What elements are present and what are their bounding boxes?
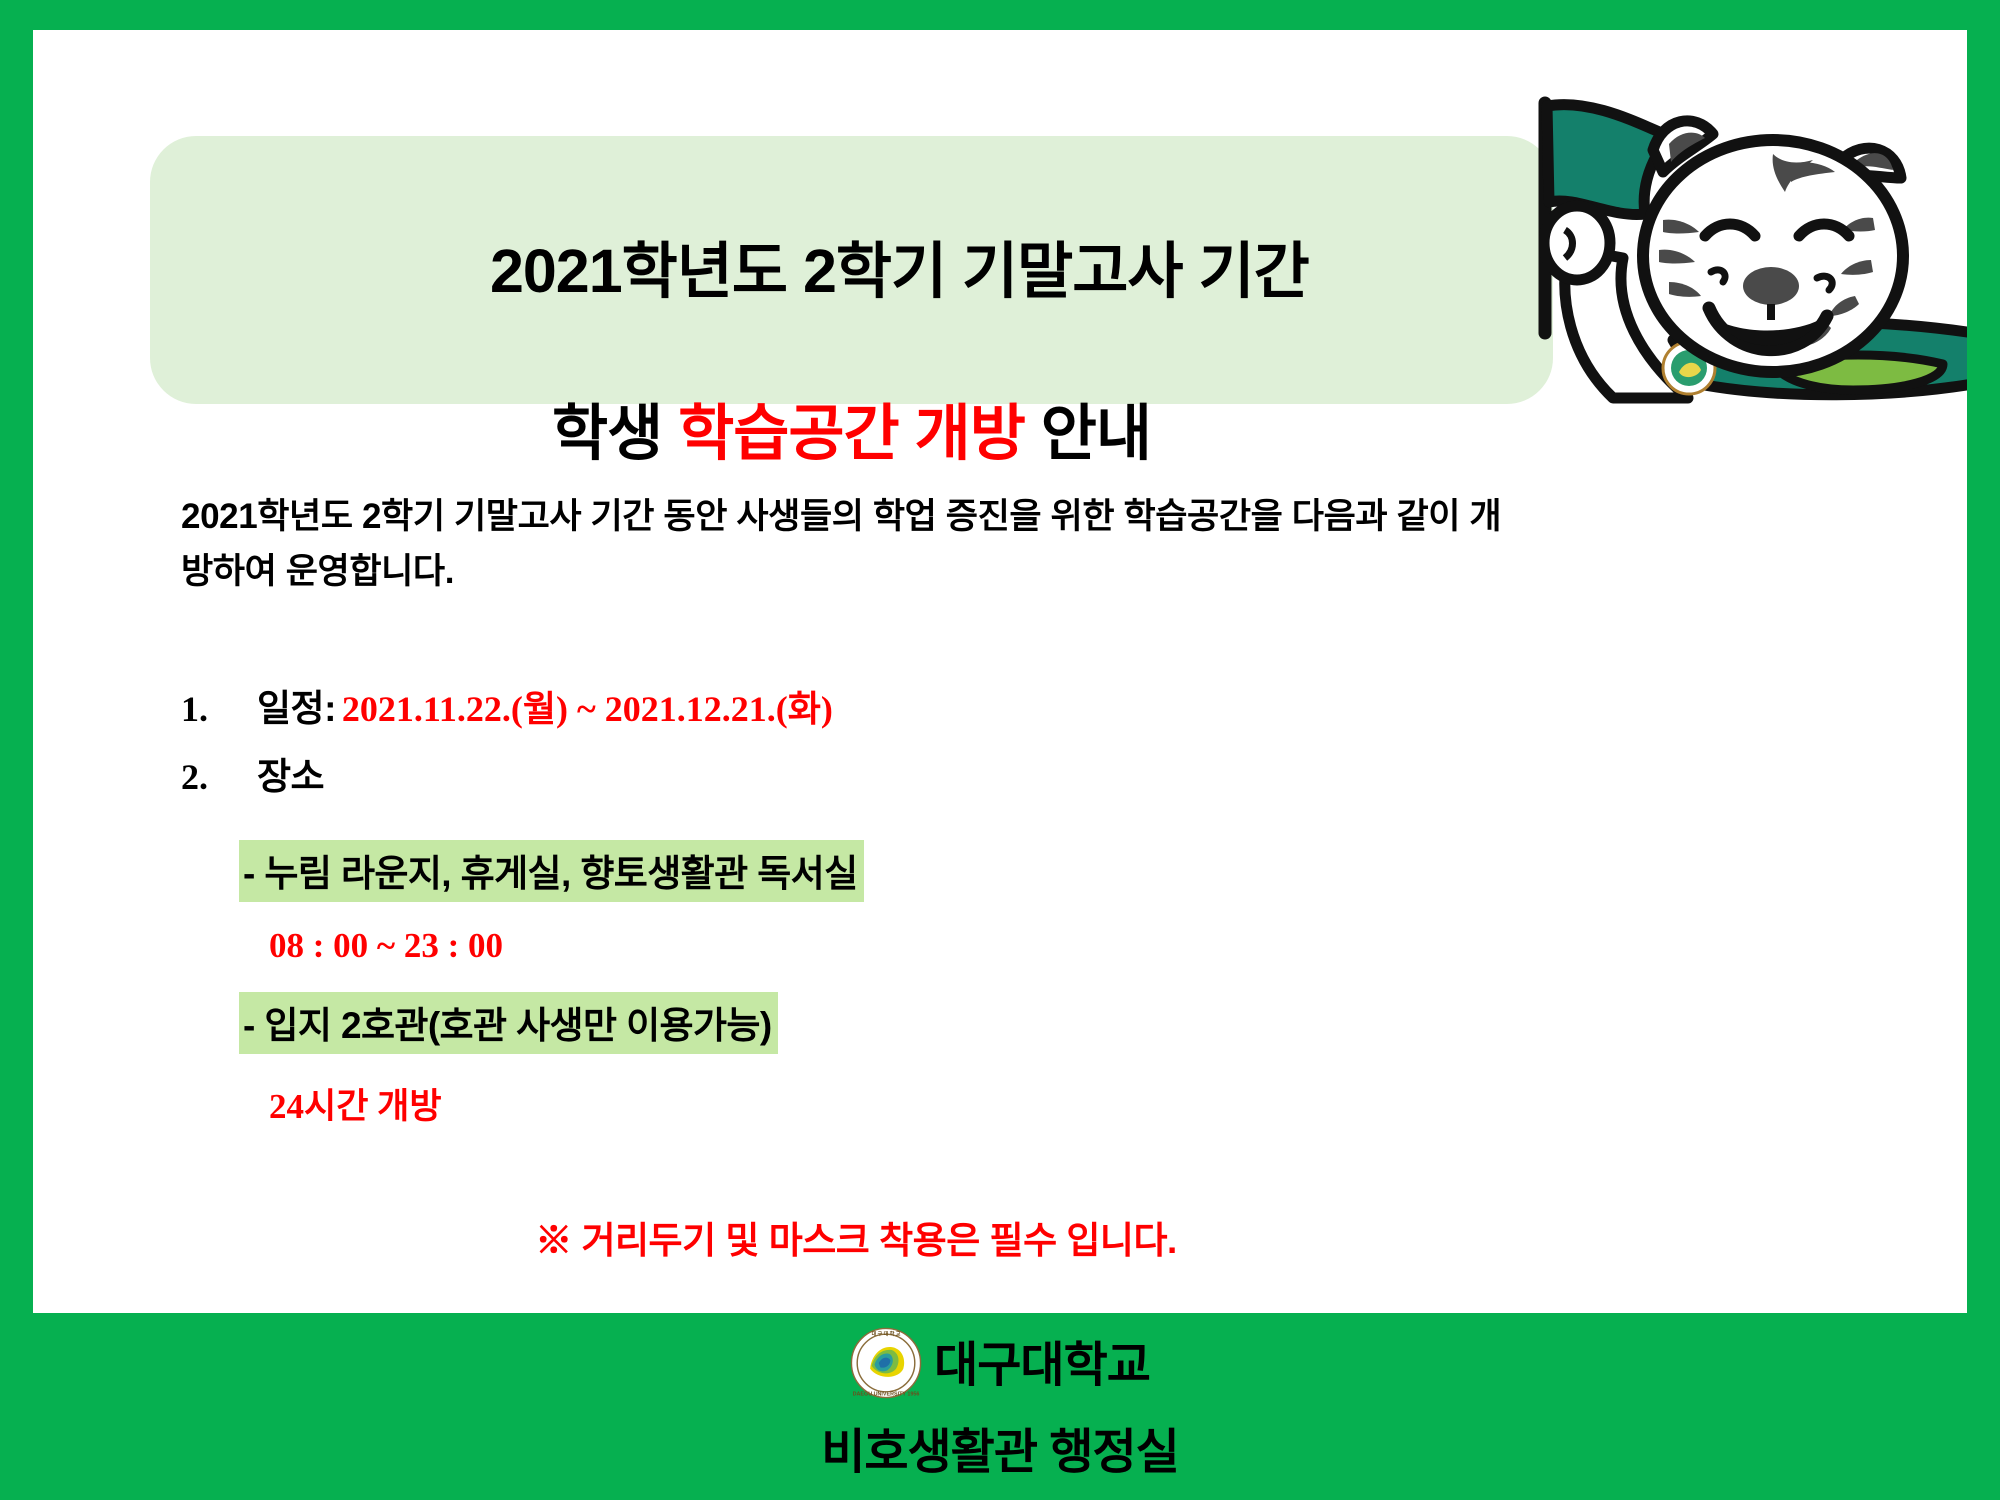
- list-item-number: 2.: [181, 756, 257, 798]
- title-line-2-pre: 학생: [552, 399, 678, 467]
- poster-footer: 대 구 대 학 교 DAEGU UNIVERSITY 1956 대구대학교 비호…: [0, 1313, 2000, 1500]
- university-emblem-icon: 대 구 대 학 교 DAEGU UNIVERSITY 1956: [850, 1327, 922, 1404]
- footer-office-name: 비호생활관 행정실: [0, 1412, 2000, 1482]
- schedule-date-range: 2021.11.22.(월) ~ 2021.12.21.(화): [342, 680, 833, 732]
- place-entry-2: - 입지 2호관(호관 사생만 이용가능) 24시간 개방: [181, 966, 1531, 1129]
- place-name-highlight: - 입지 2호관(호관 사생만 이용가능): [239, 992, 778, 1054]
- svg-text:대 구 대 학 교: 대 구 대 학 교: [872, 1331, 901, 1338]
- place-name-highlight: - 누림 라운지, 휴게실, 향토생활관 독서실: [239, 840, 864, 902]
- title-line-1: 2021학년도 2학기 기말고사 기간: [490, 237, 1309, 305]
- list-item-label: 일정:: [257, 678, 336, 732]
- list-item-label: 장소: [257, 746, 324, 800]
- safety-notice: ※ 거리두기 및 마스크 착용은 필수 입니다.: [181, 1210, 1531, 1264]
- poster-page: 2021학년도 2학기 기말고사 기간 학생 학습공간 개방 안내: [33, 30, 1967, 1313]
- content-list: 1. 일정: 2021.11.22.(월) ~ 2021.12.21.(화) 2…: [181, 678, 1531, 1129]
- place-hours: 08 : 00 ~ 23 : 00: [269, 926, 1531, 966]
- poster-root: 2021학년도 2학기 기말고사 기간 학생 학습공간 개방 안내: [0, 0, 2000, 1500]
- list-item-location: 2. 장소: [181, 746, 1531, 800]
- title-line-2: 학생 학습공간 개방 안내: [150, 393, 1553, 474]
- svg-text:DAEGU UNIVERSITY 1956: DAEGU UNIVERSITY 1956: [853, 1391, 920, 1397]
- title-line-2-highlight: 학습공간 개방: [678, 399, 1025, 467]
- place-entry-1: - 누림 라운지, 휴게실, 향토생활관 독서실 08 : 00 ~ 23 : …: [181, 814, 1531, 966]
- list-item-schedule: 1. 일정: 2021.11.22.(월) ~ 2021.12.21.(화): [181, 678, 1531, 732]
- footer-university-row: 대 구 대 학 교 DAEGU UNIVERSITY 1956 대구대학교: [0, 1313, 2000, 1404]
- footer-university-name: 대구대학교: [934, 1342, 1150, 1390]
- title-line-2-post: 안내: [1025, 399, 1151, 467]
- place-hours: 24시간 개방: [269, 1078, 1531, 1129]
- intro-paragraph: 2021학년도 2학기 기말고사 기간 동안 사생들의 학업 증진을 위한 학습…: [181, 489, 1531, 600]
- list-item-number: 1.: [181, 688, 257, 730]
